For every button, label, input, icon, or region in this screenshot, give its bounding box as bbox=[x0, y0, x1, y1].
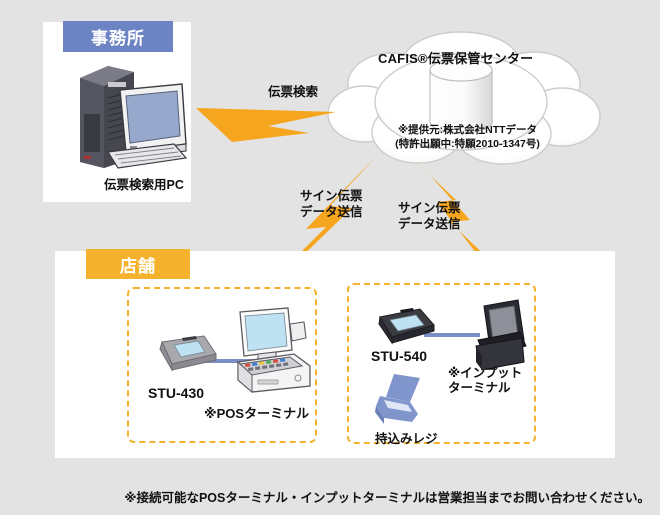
cloud-note-line1: ※提供元:株式会社NTTデータ bbox=[350, 124, 585, 138]
pos-terminal-caption: ※POSターミナル bbox=[204, 403, 309, 422]
search-arrow-shape bbox=[196, 108, 336, 142]
send-left-line2: データ送信 bbox=[300, 204, 363, 220]
send-right-line1: サイン伝票 bbox=[398, 200, 461, 216]
cloud-note-line2: (特許出願中:特願2010-1347号) bbox=[350, 138, 585, 152]
input-terminal-caption-line2: ターミナル bbox=[448, 381, 522, 396]
send-arrow-right-label: サイン伝票 データ送信 bbox=[398, 200, 461, 232]
office-badge-label: 事務所 bbox=[91, 24, 145, 49]
input-terminal-caption: ※インプット ターミナル bbox=[448, 366, 522, 396]
office-pc-illustration bbox=[70, 52, 190, 174]
office-section-badge: 事務所 bbox=[63, 21, 173, 52]
send-left-line1: サイン伝票 bbox=[300, 188, 363, 204]
pos-terminal-device bbox=[232, 306, 318, 392]
send-arrow-left-label: サイン伝票 データ送信 bbox=[300, 188, 363, 220]
input-terminal-device bbox=[470, 300, 530, 372]
stu-430-device bbox=[152, 332, 220, 380]
brought-in-register-caption: 持込みレジ bbox=[375, 428, 438, 447]
brought-in-register-device bbox=[372, 372, 434, 428]
cloud-title: CAFIS®伝票保管センター bbox=[378, 48, 533, 67]
send-right-line2: データ送信 bbox=[398, 216, 461, 232]
store-section-badge: 店舗 bbox=[86, 249, 190, 279]
office-pc-caption: 伝票検索用PC bbox=[104, 174, 184, 193]
cafis-cloud bbox=[318, 22, 608, 174]
store-badge-label: 店舗 bbox=[120, 252, 156, 277]
footer-note: ※接続可能なPOSターミナル・インプットターミナルは営業担当までお問い合わせくだ… bbox=[0, 487, 650, 506]
search-arrow-label: 伝票検索 bbox=[268, 84, 318, 100]
stu-430-caption: STU-430 bbox=[148, 385, 204, 401]
diagram-canvas: 事務所 伝票検索用PC bbox=[0, 0, 660, 515]
stu-540-caption: STU-540 bbox=[371, 348, 427, 364]
stu-540-device bbox=[372, 305, 438, 351]
cloud-note: ※提供元:株式会社NTTデータ (特許出願中:特願2010-1347号) bbox=[350, 124, 585, 151]
input-terminal-caption-line1: ※インプット bbox=[448, 366, 522, 381]
